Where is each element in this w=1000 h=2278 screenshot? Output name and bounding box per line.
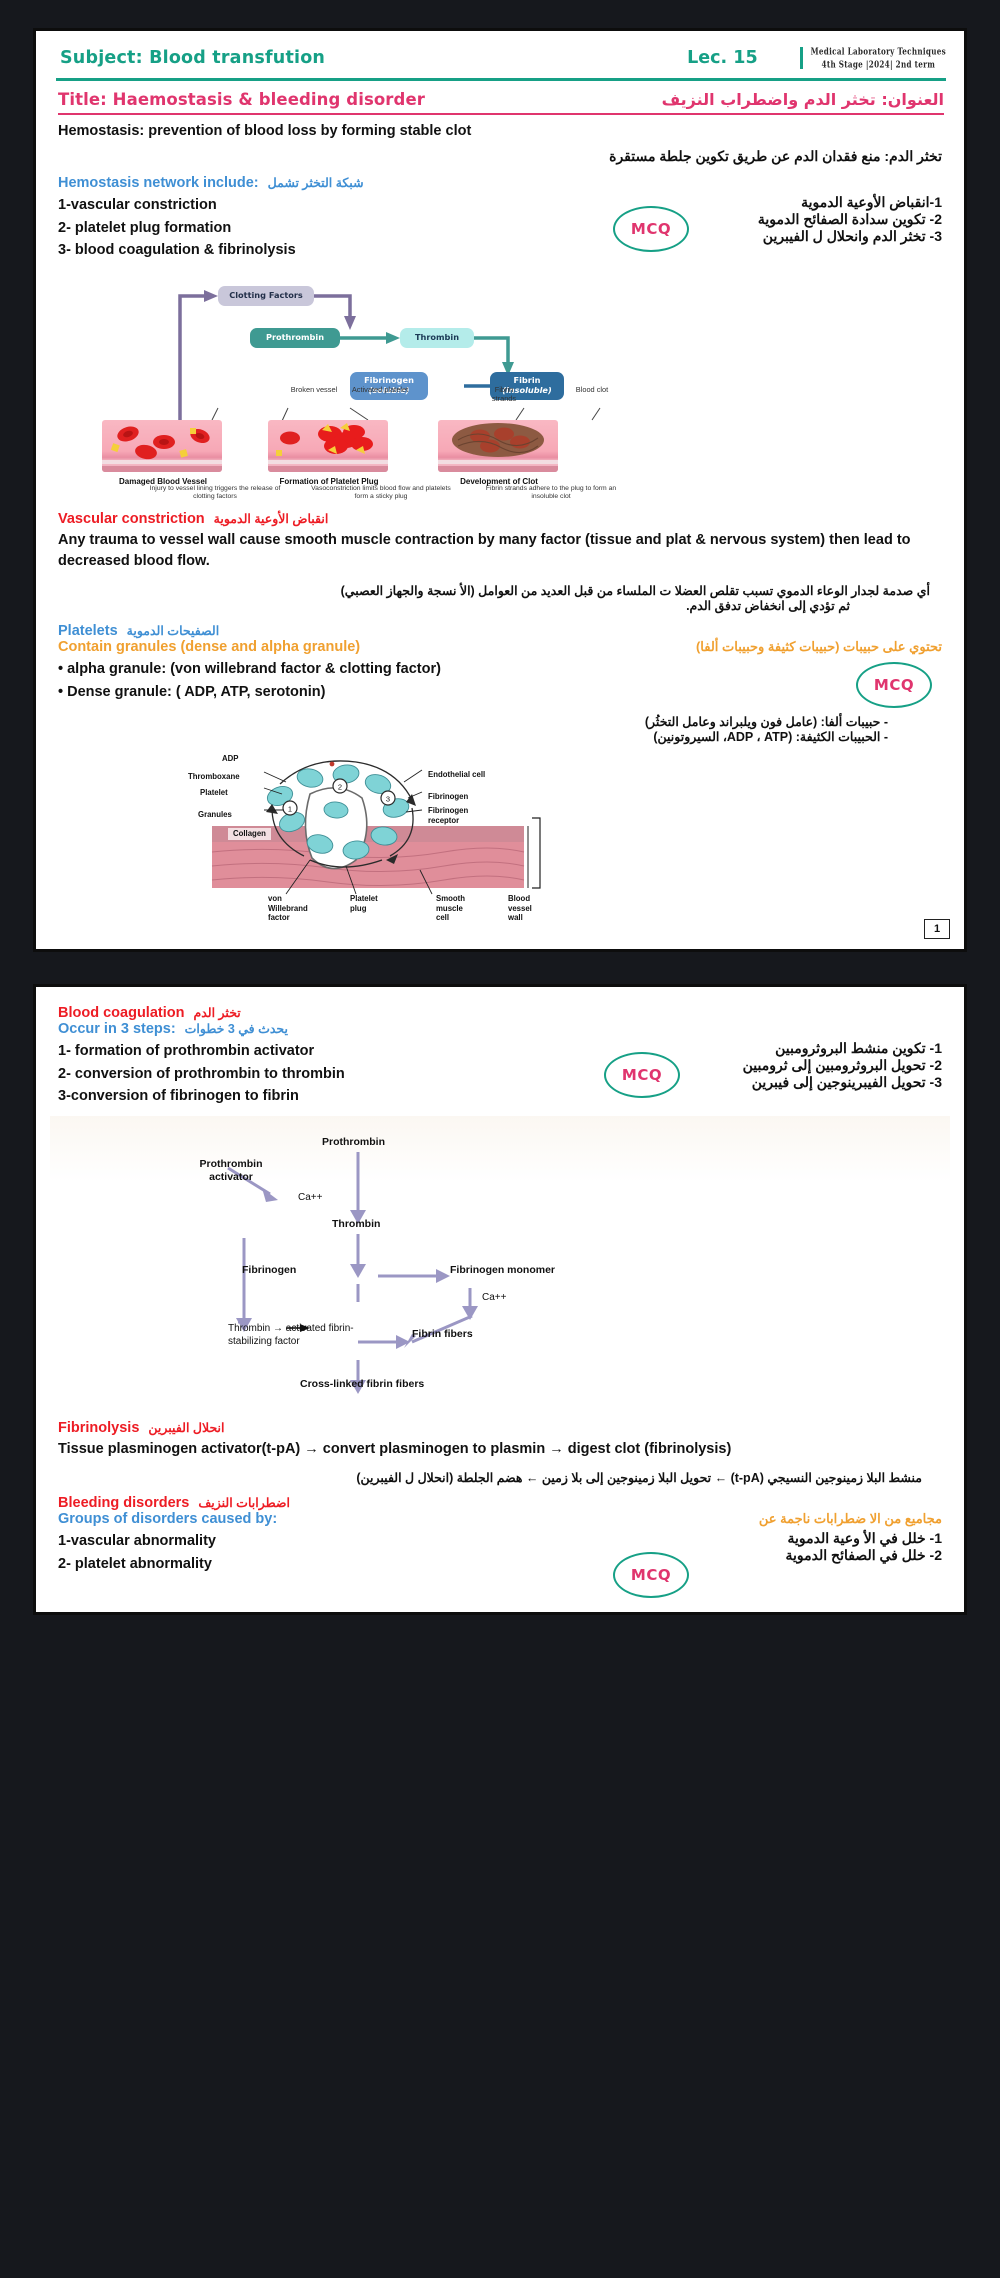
svg-text:3: 3 [386,795,390,804]
chip-thrombin: Thrombin [400,328,474,348]
bleeding-heading-ar: اضطرابات النزيف [198,1495,290,1510]
callout-blood-clot: Blood clot [572,386,612,395]
steps-heading-en: Occur in 3 steps: [58,1021,176,1037]
header-subject: Subject: Blood transfution [60,48,325,68]
vessel-panel-damaged [102,420,222,472]
panel-caption-2: Vasoconstriction limits blood flow and p… [306,485,456,502]
callout-activated-platelet: Activated platelet [350,386,410,395]
cofactor-calcium-2: Ca++ [482,1292,506,1305]
coag-step-1-en: 1- formation of prothrombin activator [58,1040,582,1062]
coag-step-2-en: 2- conversion of prothrombin to thrombin [58,1063,582,1085]
coag-step-1-ar: 1- تكوين منشط البروثرومبين [702,1040,942,1057]
label-collagen: Collagen [228,828,271,839]
vascular-body-ar-2: ثم تؤدي إلى انخفاض تدفق الدم. [50,598,950,613]
vascular-heading: Vascular constriction انقباض الأوعية الد… [50,511,950,527]
label-thromboxane: Thromboxane [188,772,240,781]
bleeding-item-2-ar: 2- خلل في الصفائح الدموية [706,1547,942,1564]
network-heading: Hemostasis network include: شبكة التخثر … [50,175,950,191]
granule-bullet-2: • Dense granule: ( ADP, ATP, serotonin) [58,681,846,703]
side-note-thrombin-activated-factor: Thrombin → activated fibrin-stabilizing … [228,1322,360,1349]
slide-2: Blood coagulation تخثر الدم Occur in 3 s… [33,984,967,1615]
fibrinolysis-heading: Fibrinolysis انحلال الفيبرين [50,1420,950,1436]
label-platelet-plug: Platelet plug [350,894,392,913]
vascular-body-en: Any trauma to vessel wall cause smooth m… [50,530,950,574]
mcq-badge-1: MCQ [613,206,689,252]
network-item-1-en: 1-vascular constriction [58,194,596,216]
coag-step-2-ar: 2- تحويل البروثرومبين إلى ثرومبين [702,1057,942,1074]
network-item-2-ar: 2- تكوين سدادة الصفائح الدموية [706,211,942,228]
title-english: Title: Haemostasis & bleeding disorder [58,90,425,109]
coagulation-heading: Blood coagulation تخثر الدم [50,1005,950,1021]
hemostasis-definition-en: Hemostasis: prevention of blood loss by … [50,121,950,143]
granules-heading: Contain granules (dense and alpha granul… [50,639,950,655]
figure-clot-cascade: Clotting Factors Prothrombin Thrombin Fi… [50,268,950,483]
coagulation-heading-en: Blood coagulation [58,1005,184,1021]
label-fibrinogen: Fibrinogen [428,792,468,801]
slide-1: Subject: Blood transfution Lec. 15 Medic… [33,28,967,952]
platelets-heading: Platelets الصفيحات الدموية [50,623,950,639]
network-item-3-ar: 3- تخثر الدم وانحلال ل الفيبرين [706,228,942,245]
title-arabic: العنوان: تخثر الدم واضطراب النزيف [662,90,944,109]
network-heading-en: Hemostasis network include: [58,175,259,191]
node-fibrin-fibers: Fibrin fibers [412,1328,473,1341]
figure-coagulation-flow: Prothrombin Prothrombin activator Ca++ T… [50,1116,950,1416]
granules-content: • alpha granule: (von willebrand factor … [50,658,950,708]
page-number-badge: 1 [924,919,950,939]
coag-step-3-ar: 3- تحويل الفيبرينوجين إلى فيبرين [702,1074,942,1091]
vascular-heading-en: Vascular constriction [58,511,205,527]
label-adp: ADP [222,754,238,763]
node-prothrombin-activator: Prothrombin activator [188,1158,274,1184]
slide-header: Subject: Blood transfution Lec. 15 Medic… [50,41,950,73]
steps-heading: Occur in 3 steps: يحدث في 3 خطوات [50,1021,950,1037]
fibrinolysis-body-en: Tissue plasminogen activator(t-pA) → con… [50,1439,950,1461]
vessel-panel-platelet-plug [268,420,388,472]
institution-logo: Medical Laboratory Techniques 4th Stage … [800,47,946,69]
network-heading-ar: شبكة التخثر تشمل [268,175,364,190]
document-pages: Subject: Blood transfution Lec. 15 Medic… [0,0,1000,1643]
granules-heading-en: Contain granules (dense and alpha granul… [58,639,642,655]
mcq-badge-4: MCQ [613,1552,689,1598]
hemostasis-definition-ar: تخثر الدم: منع فقدان الدم عن طريق تكوين … [50,148,950,165]
panel-caption-3: Fibrin strands adhere to the plug to for… [476,485,626,502]
vessel-panel-clot [438,420,558,472]
steps-heading-ar: يحدث في 3 خطوات [185,1021,288,1036]
cofactor-calcium-1: Ca++ [298,1192,322,1205]
bleeding-heading-en: Bleeding disorders [58,1495,189,1511]
label-granules: Granules [198,810,232,819]
granule-ar-2: - الحبيبات الكثيفة: (ADP ، ATP، السيروتو… [50,729,950,744]
svg-text:1: 1 [288,805,292,814]
logo-line-2: 4th Stage |2024| 2nd term [822,59,936,70]
callout-broken-vessel: Broken vessel [288,386,340,395]
label-endothelial-cell: Endothelial cell [428,770,485,779]
svg-text:2: 2 [338,783,342,792]
coagulation-steps: 1- formation of prothrombin activator 2-… [50,1040,950,1107]
fibrinolysis-heading-ar: انحلال الفيبرين [148,1420,224,1435]
label-smooth-muscle-cell: Smooth muscle cell [436,894,476,922]
node-prothrombin: Prothrombin [322,1136,385,1149]
node-fibrinogen-monomer: Fibrinogen monomer [450,1264,555,1277]
logo-line-1: Medical Laboratory Techniques [811,46,946,57]
callout-fibrin-strands: Fibrin strands [482,386,526,404]
fibrinolysis-heading-en: Fibrinolysis [58,1420,139,1436]
coagulation-heading-ar: تخثر الدم [193,1005,240,1020]
header-lecture-number: Lec. 15 [687,48,758,68]
groups-heading: Groups of disorders caused by: مجاميع من… [50,1511,950,1527]
platelets-heading-ar: الصفيحات الدموية [127,623,220,638]
mcq-badge-2: MCQ [856,662,932,708]
network-item-2-en: 2- platelet plug formation [58,217,596,239]
platelets-heading-en: Platelets [58,623,118,639]
bleeding-item-2-en: 2- platelet abnormality [58,1553,596,1575]
label-fibrinogen-receptor: Fibrinogen receptor [428,806,480,825]
fibrinolysis-body-ar: منشط البلا زمينوجين النسيجي (t-pA) ← تحو… [50,1470,950,1485]
chip-prothrombin: Prothrombin [250,328,340,348]
vascular-heading-ar: انقباض الأوعية الدموية [214,511,329,526]
label-blood-vessel-wall: Blood vessel wall [508,894,544,922]
vascular-body-ar-1: أي صدمة لجدار الوعاء الدموي تسبب تقلص ال… [50,583,950,598]
groups-heading-ar: مجاميع من الا ضطرابات ناجمة عن [622,1511,942,1527]
figure-platelet-adhesion: 1 2 3 ADP Thromboxane Platelet Granules … [50,748,950,933]
granule-ar-1: - حبيبات ألفا: (عامل فون ويلبراند وعامل … [50,714,950,729]
figure-1-captions: Injury to vessel lining triggers the rel… [50,485,950,511]
node-cross-linked-fibrin: Cross-linked fibrin fibers [300,1378,424,1391]
bleeding-item-1-ar: 1- خلل في الأ وعية الدموية [706,1530,942,1547]
network-item-3-en: 3- blood coagulation & fibrinolysis [58,239,596,261]
node-thrombin: Thrombin [332,1218,380,1231]
granule-bullet-1: • alpha granule: (von willebrand factor … [58,658,846,680]
title-row: Title: Haemostasis & bleeding disorder ا… [50,81,950,111]
granules-heading-ar: تحتوي على حبيبات (حبيبات كثيفة وحبيبات أ… [642,639,942,655]
groups-heading-en: Groups of disorders caused by: [58,1511,622,1527]
label-platelet: Platelet [200,788,228,797]
node-fibrinogen: Fibrinogen [242,1264,296,1277]
network-item-1-ar: 1-انقباض الأوعية الدموية [706,194,942,211]
label-von-willebrand-factor: von Willebrand factor [268,894,308,922]
mcq-badge-3: MCQ [604,1052,680,1098]
bleeding-item-1-en: 1-vascular abnormality [58,1530,596,1552]
network-list: 1-vascular constriction 2- platelet plug… [50,194,950,261]
coag-step-3-en: 3-conversion of fibrinogen to fibrin [58,1085,582,1107]
chip-clotting-factors: Clotting Factors [218,286,314,306]
bleeding-heading: Bleeding disorders اضطرابات النزيف [50,1495,950,1511]
bleeding-list: 1-vascular abnormality 2- platelet abnor… [50,1530,950,1598]
panel-caption-1: Injury to vessel lining triggers the rel… [140,485,290,502]
